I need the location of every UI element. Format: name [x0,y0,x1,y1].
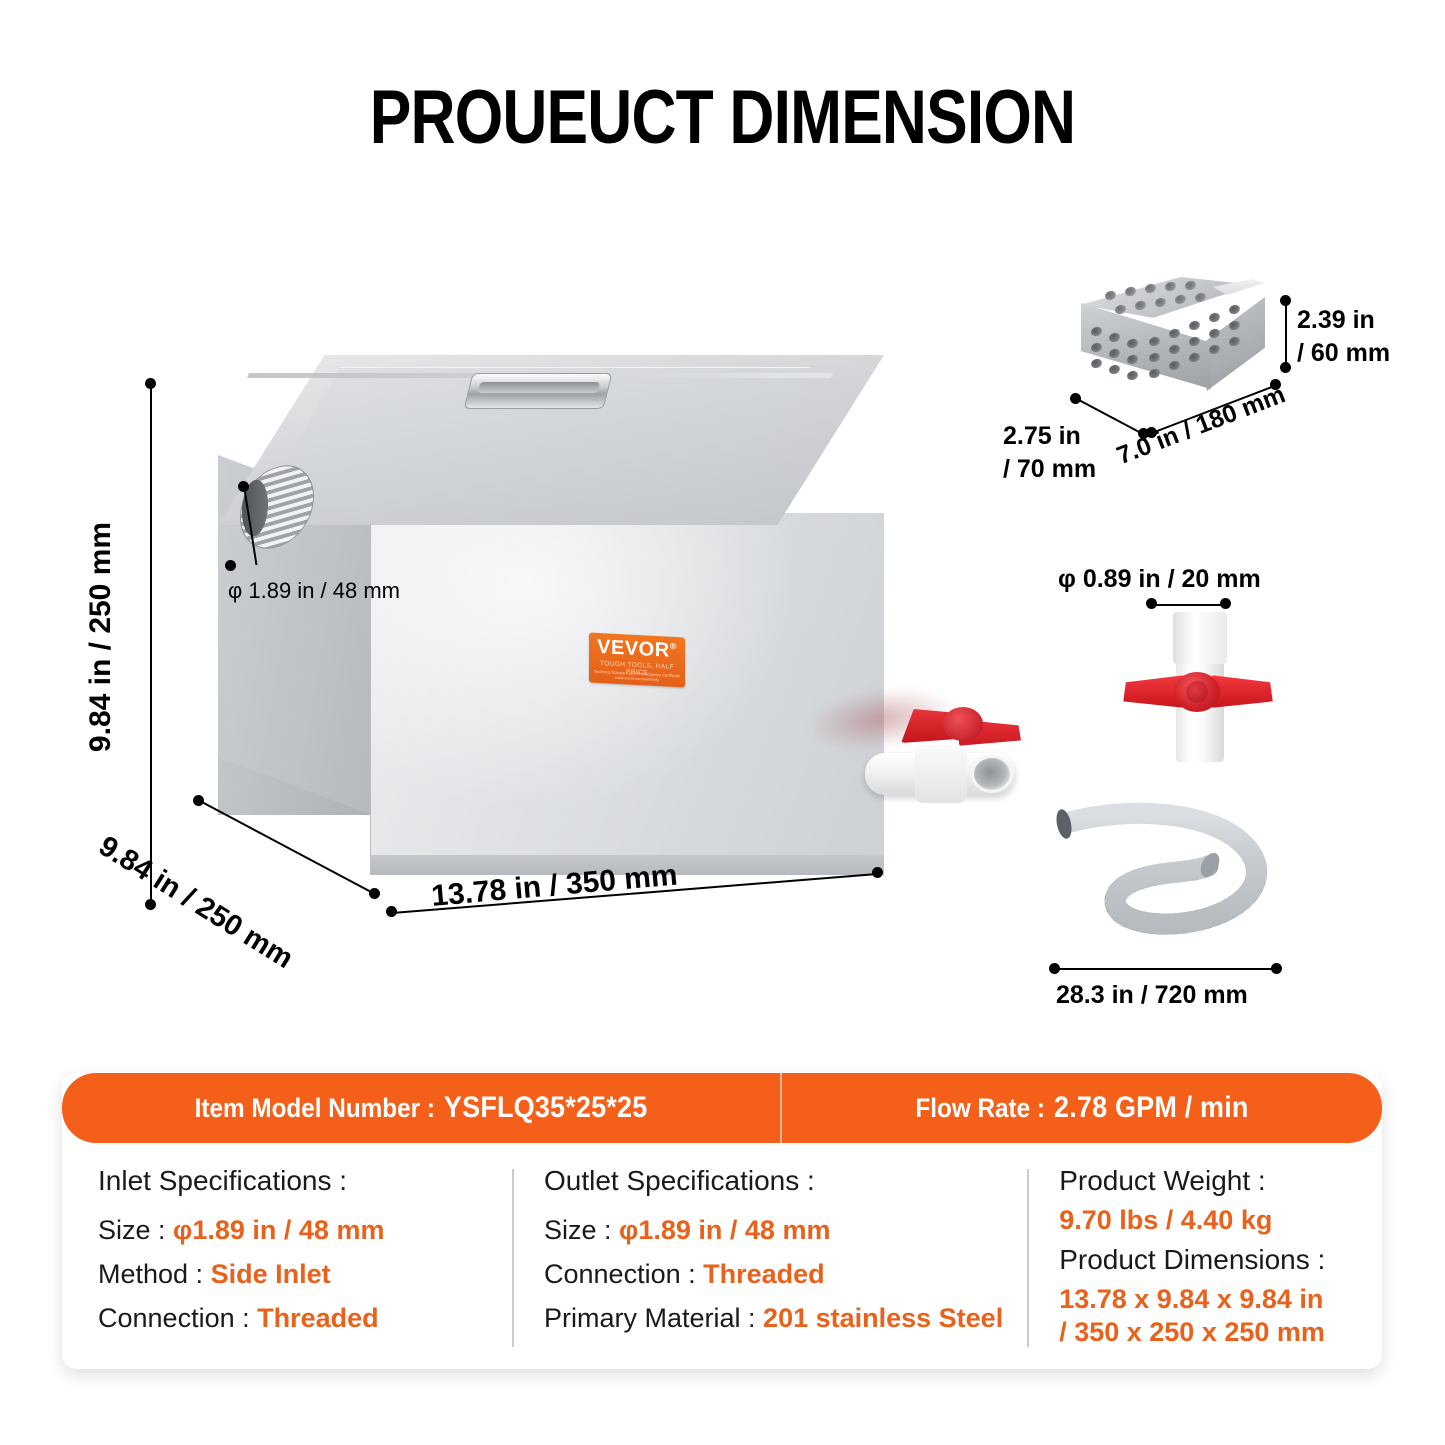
height-dimension-line [150,383,152,905]
header-divider [780,1073,782,1143]
outlet-material-value: 201 stainless Steel [763,1303,1003,1333]
ball-valve-illustration [1140,612,1280,762]
inlet-specifications-title: Inlet Specifications : [98,1165,488,1197]
valve-diameter-line [1152,604,1226,606]
flow-rate-cell: Flow Rate : 2.78 GPM / min [812,1091,1352,1125]
height-dimension-label: 9.84 in / 250 mm [84,522,118,752]
basket-height-dot-top [1280,295,1291,306]
model-number-key: Item Model Number : [195,1093,435,1124]
hose-svg [1040,800,1300,960]
basket-height-label: 2.39 in / 60 mm [1297,304,1390,370]
flow-rate-key: Flow Rate : [915,1093,1045,1124]
model-number-cell: Item Model Number : YSFLQ35*25*25 [98,1091,744,1125]
product-details-column: Product Weight : 9.70 lbs / 4.40 kg Prod… [1029,1165,1382,1369]
inlet-size-value: φ1.89 in / 48 mm [173,1215,384,1245]
box-front-face: VEVOR® TOUGH TOOLS, HALF PRICE Technical… [370,513,884,873]
inlet-method-key: Method : [98,1259,203,1289]
product-weight-key: Product Weight : [1059,1165,1356,1197]
inlet-method-row: Method : Side Inlet [98,1259,488,1290]
hose-length-label: 28.3 in / 720 mm [1056,981,1248,1010]
outlet-size-value: φ1.89 in / 48 mm [619,1215,830,1245]
inlet-size-key: Size : [98,1215,166,1245]
basket-depth-label: 2.75 in / 70 mm [1003,420,1096,486]
outlet-connection-row: Connection : Threaded [544,1259,1003,1290]
spec-body: Inlet Specifications : Size : φ1.89 in /… [62,1143,1382,1369]
outlet-material-key: Primary Material : [544,1303,756,1333]
valve-handle-cap [943,707,983,741]
front-mounted-ball-valve [851,683,1031,833]
inlet-connection-key: Connection : [98,1303,250,1333]
outlet-material-row: Primary Material : 201 stainless Steel [544,1303,1003,1334]
drain-hose-illustration [1040,800,1300,960]
spec-header-bar: Item Model Number : YSFLQ35*25*25 Flow R… [62,1073,1382,1143]
basket-height-line [1285,300,1287,368]
specifications-card: Item Model Number : YSFLQ35*25*25 Flow R… [62,1073,1382,1369]
outlet-specifications-title: Outlet Specifications : [544,1165,1003,1197]
valve-handle-assembly [1122,672,1274,712]
hose-length-line [1055,968,1277,970]
width-dimension-dot-start [386,906,397,917]
hose-length-dot-start [1049,963,1060,974]
outlet-connection-key: Connection : [544,1259,696,1289]
outlet-connection-value: Threaded [703,1259,825,1289]
inlet-connection-row: Connection : Threaded [98,1303,488,1334]
product-dimensions-value-line2: / 350 x 250 x 250 mm [1059,1317,1356,1348]
strainer-basket-illustration [1063,275,1283,405]
product-dimensions-key: Product Dimensions : [1059,1244,1356,1276]
product-weight-value: 9.70 lbs / 4.40 kg [1059,1205,1356,1236]
height-dimension-dot-top [145,378,156,389]
basket-height-line1: 2.39 in [1297,304,1390,337]
box-lid-handle [464,373,613,409]
basket-depth-line2: / 70 mm [1003,453,1096,486]
valve-threaded-mouth [971,755,1013,793]
product-dimensions-value-line1: 13.78 x 9.84 x 9.84 in [1059,1284,1356,1315]
inlet-connection-value: Threaded [257,1303,379,1333]
inlet-method-value: Side Inlet [211,1259,331,1289]
grease-trap-box-illustration: VEVOR® TOUGH TOOLS, HALF PRICE Technical… [196,355,906,915]
valve-diameter-label: φ 0.89 in / 20 mm [1058,565,1261,594]
basket-depth-dot-start [1070,393,1081,404]
basket-height-dot-bottom [1280,362,1291,373]
flow-rate-value: 2.78 GPM / min [1054,1091,1249,1125]
depth-dimension-dot-start [193,795,204,806]
outlet-size-key: Size : [544,1215,612,1245]
box-front-sheen [371,513,884,873]
vevor-logo-badge: VEVOR® TOUGH TOOLS, HALF PRICE Technical… [589,632,685,687]
valve-collar [915,745,967,803]
basket-depth-line1: 2.75 in [1003,420,1096,453]
basket-height-line2: / 60 mm [1297,337,1390,370]
valve-center-cap-inner [1186,681,1208,703]
inlet-callout-dot-bottom [225,560,236,571]
inlet-callout-dot-top [238,481,249,492]
inlet-diameter-label: φ 1.89 in / 48 mm [228,578,400,604]
depth-dimension-dot-end [369,888,380,899]
height-dimension-dot-bottom [145,899,156,910]
valve-red-handle [901,705,1021,747]
inlet-specifications-column: Inlet Specifications : Size : φ1.89 in /… [62,1165,514,1369]
model-number-value: YSFLQ35*25*25 [444,1091,647,1125]
handle-slot [478,382,601,393]
inlet-size-row: Size : φ1.89 in / 48 mm [98,1215,488,1246]
valve-body-pipe-top [1173,612,1227,664]
outlet-size-row: Size : φ1.89 in / 48 mm [544,1215,1003,1246]
valve-diameter-dot-start [1146,598,1157,609]
hose-length-dot-end [1271,963,1282,974]
outlet-specifications-column: Outlet Specifications : Size : φ1.89 in … [514,1165,1029,1369]
valve-diameter-dot-end [1220,598,1231,609]
width-dimension-dot-end [872,867,883,878]
